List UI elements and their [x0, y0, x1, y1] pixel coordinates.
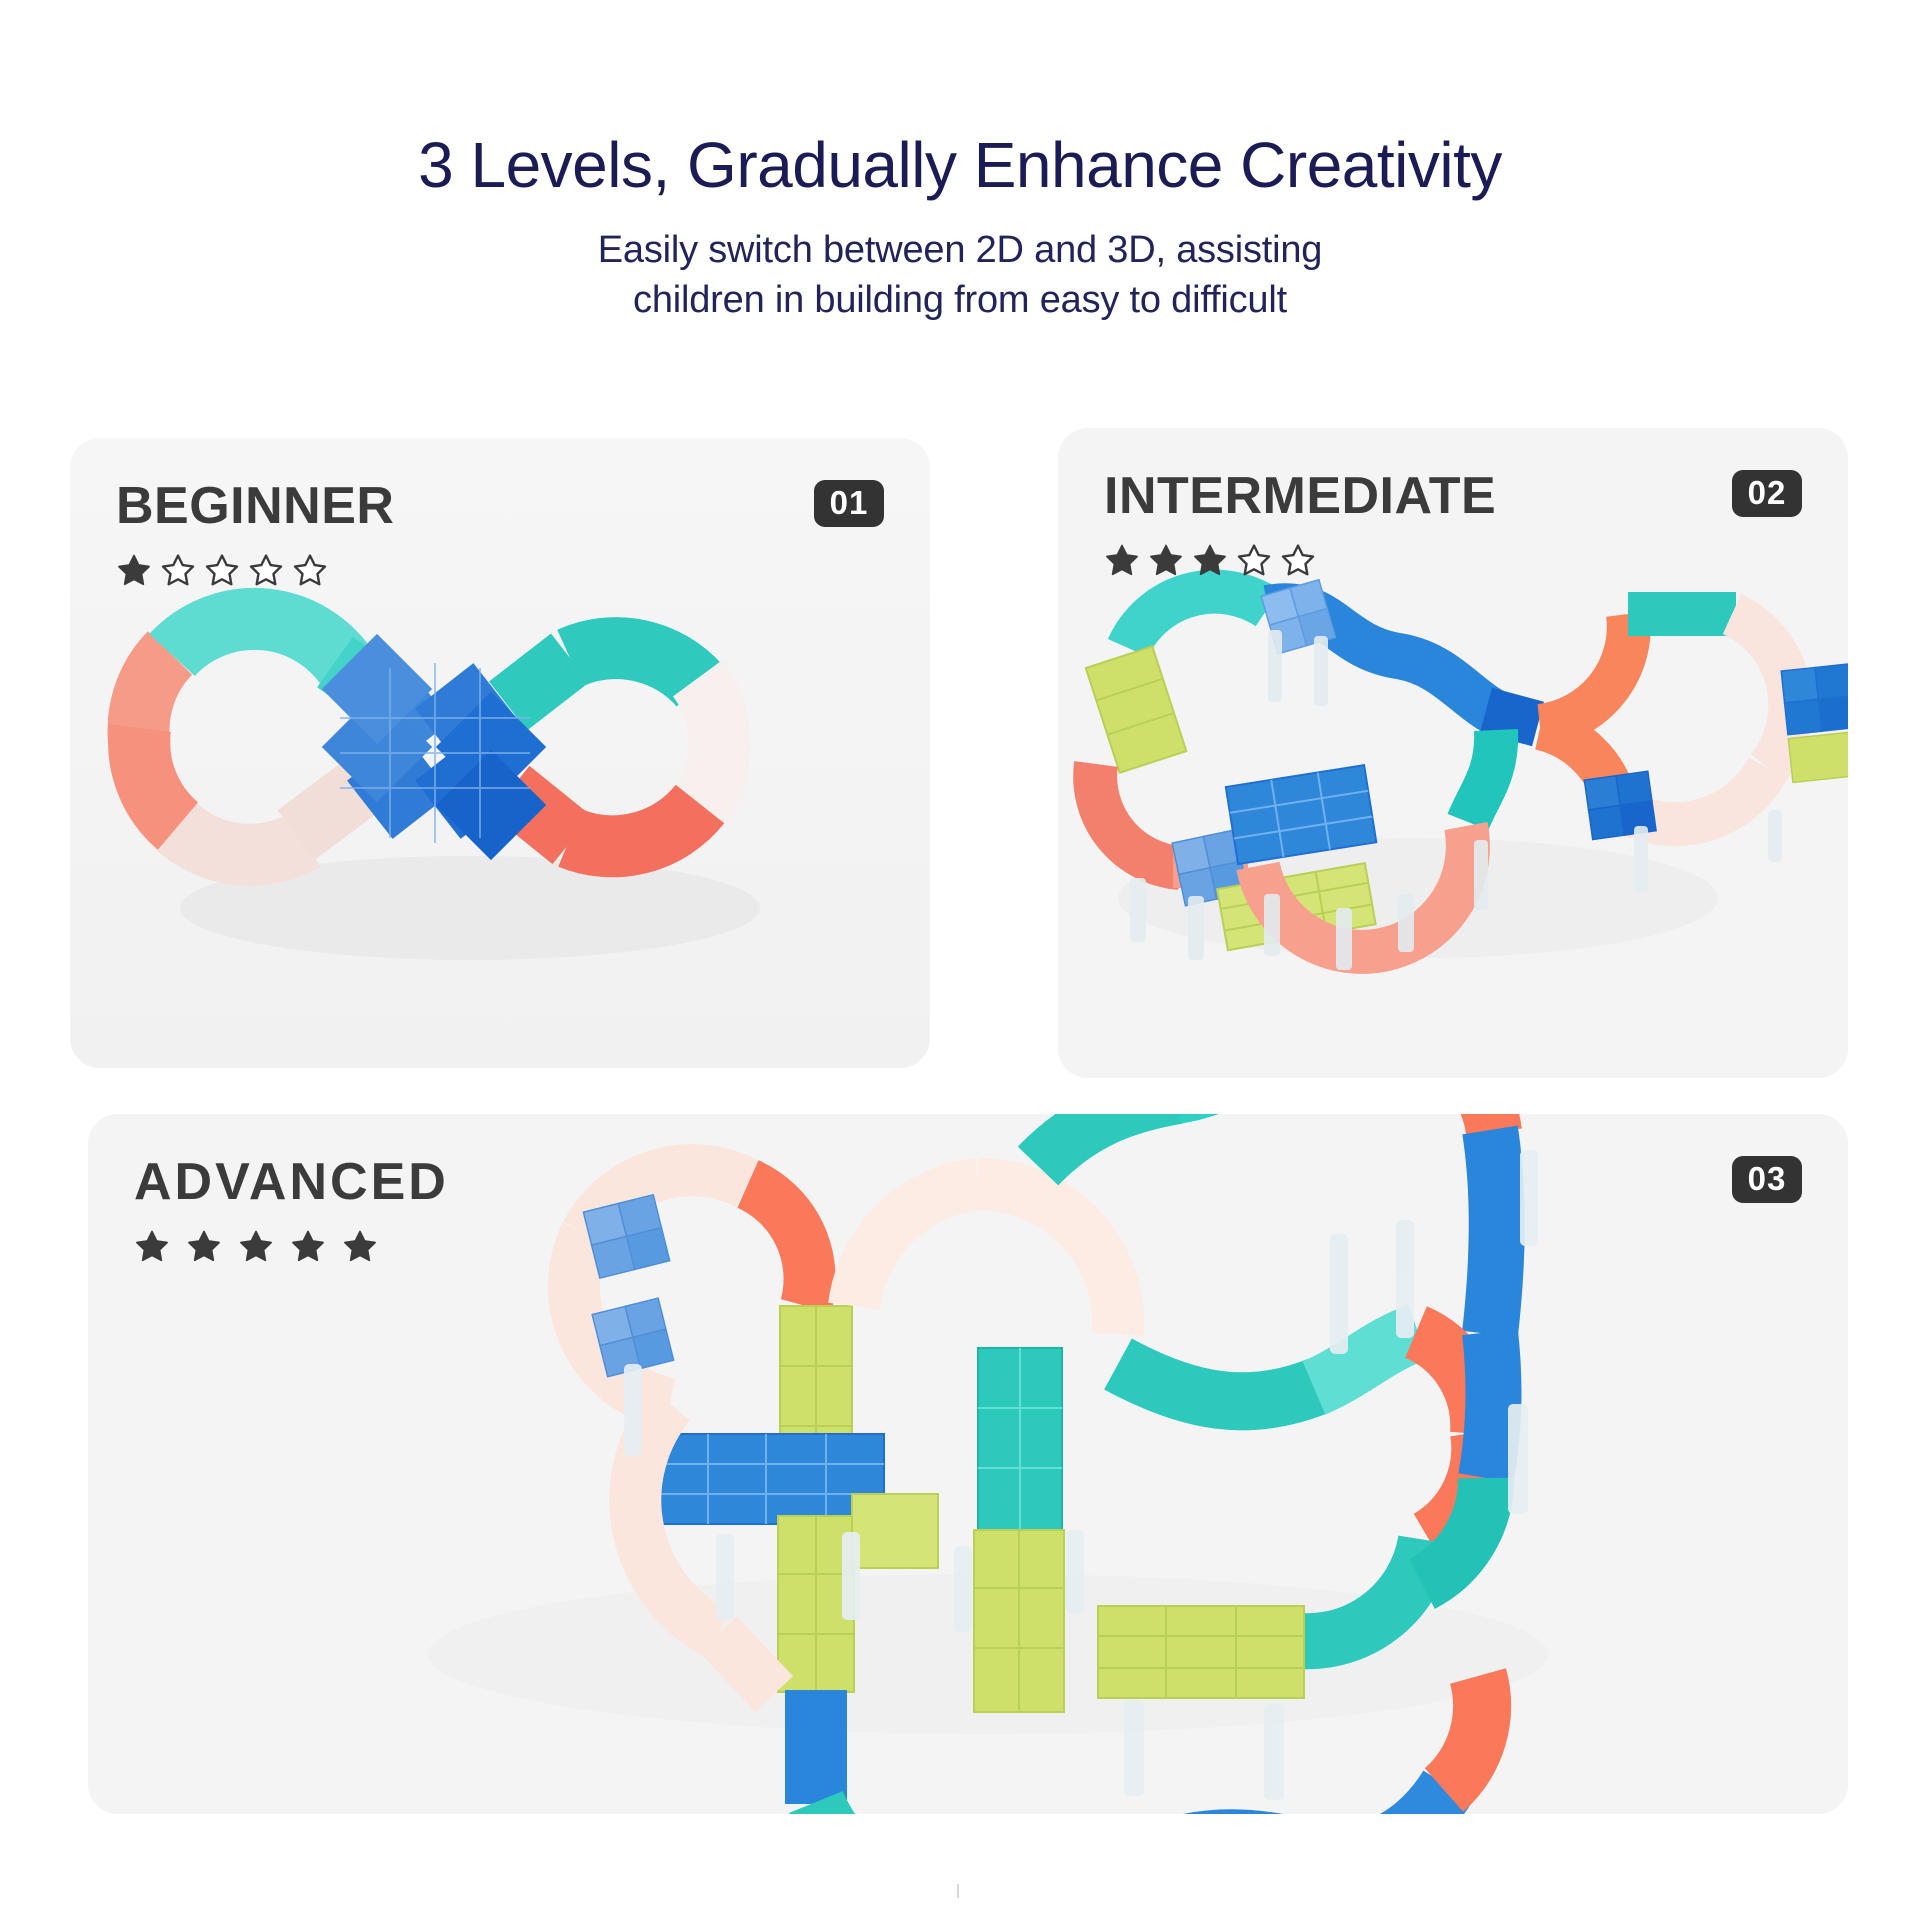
intermediate-track-illustration — [1058, 428, 1848, 1078]
star-filled-icon — [1104, 542, 1140, 578]
level-badge-advanced: 03 — [1732, 1156, 1802, 1203]
advanced-card-header: ADVANCED 03 — [88, 1114, 1848, 1264]
level-name-beginner: BEGINNER — [116, 480, 394, 532]
star-filled-icon — [342, 1228, 378, 1264]
beginner-card-header: BEGINNER 01 — [70, 438, 930, 588]
star-filled-icon — [290, 1228, 326, 1264]
rating-stars-intermediate — [1104, 542, 1496, 578]
star-filled-icon — [1148, 542, 1184, 578]
star-filled-icon — [134, 1228, 170, 1264]
level-card-advanced[interactable]: ADVANCED 03 — [88, 1114, 1848, 1814]
star-filled-icon — [238, 1228, 274, 1264]
star-empty-icon — [292, 552, 328, 588]
rating-stars-advanced — [134, 1228, 449, 1264]
advanced-title-block: ADVANCED — [134, 1156, 449, 1264]
level-card-intermediate[interactable]: INTERMEDIATE 02 — [1058, 428, 1848, 1078]
page-header: 3 Levels, Gradually Enhance Creativity E… — [0, 0, 1920, 326]
level-badge-intermediate: 02 — [1732, 470, 1802, 517]
star-empty-icon — [1280, 542, 1316, 578]
star-filled-icon — [1192, 542, 1228, 578]
beginner-title-block: BEGINNER — [116, 480, 394, 588]
level-card-beginner[interactable]: BEGINNER 01 — [70, 438, 930, 1068]
subtitle-line-2: children in building from easy to diffic… — [0, 275, 1920, 325]
star-empty-icon — [248, 552, 284, 588]
star-filled-icon — [116, 552, 152, 588]
star-filled-icon — [186, 1228, 222, 1264]
star-empty-icon — [160, 552, 196, 588]
page-footer-tick — [957, 1884, 959, 1898]
page-root: 3 Levels, Gradually Enhance Creativity E… — [0, 0, 1920, 1920]
intermediate-title-block: INTERMEDIATE — [1104, 470, 1496, 578]
level-name-advanced: ADVANCED — [134, 1156, 449, 1208]
advanced-track-illustration — [88, 1114, 1848, 1814]
beginner-track-illustration — [70, 438, 930, 1068]
intermediate-card-header: INTERMEDIATE 02 — [1058, 428, 1848, 578]
rating-stars-beginner — [116, 552, 394, 588]
page-title: 3 Levels, Gradually Enhance Creativity — [0, 132, 1920, 199]
page-subtitle: Easily switch between 2D and 3D, assisti… — [0, 225, 1920, 325]
star-empty-icon — [1236, 542, 1272, 578]
level-badge-beginner: 01 — [814, 480, 884, 527]
star-empty-icon — [204, 552, 240, 588]
level-name-intermediate: INTERMEDIATE — [1104, 470, 1496, 522]
subtitle-line-1: Easily switch between 2D and 3D, assisti… — [0, 225, 1920, 275]
